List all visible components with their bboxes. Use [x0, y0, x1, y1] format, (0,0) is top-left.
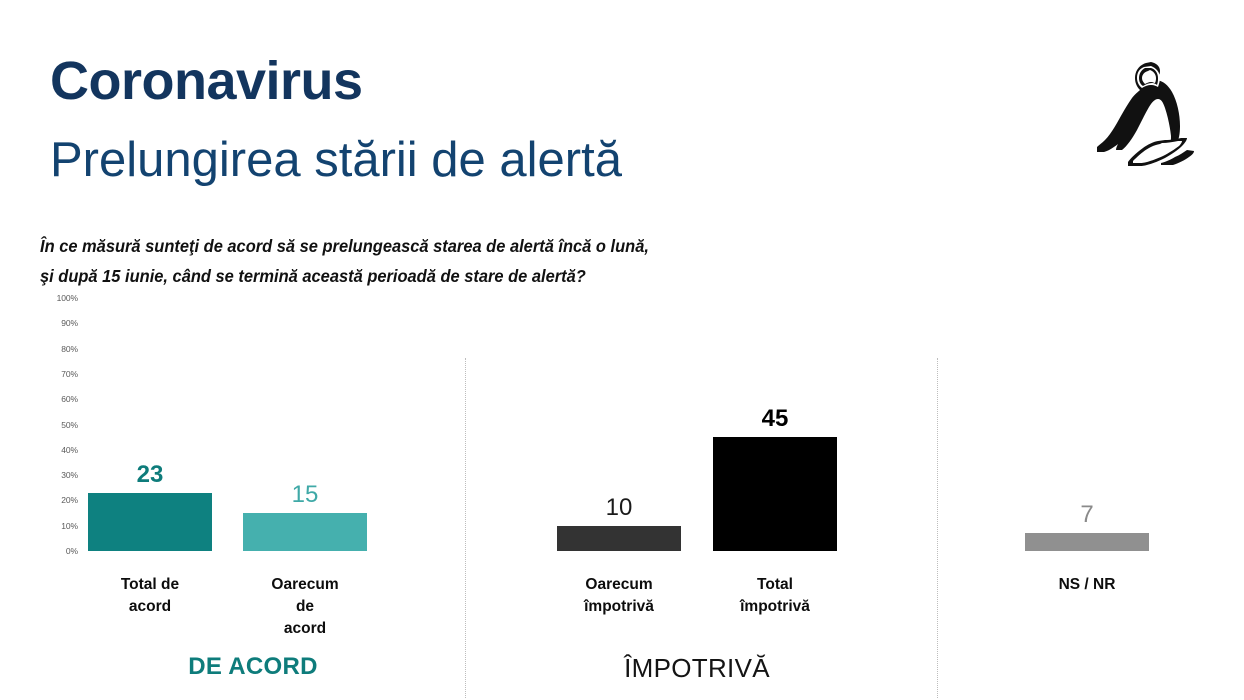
group-caption: DE ACORD	[188, 653, 318, 681]
bar-category-label: Total împotrivă	[740, 574, 810, 618]
question-text: În ce măsură sunteţi de acord să se prel…	[40, 231, 811, 292]
bar-value-label: 23	[137, 463, 164, 487]
bar[interactable]: 23Total de acord	[88, 493, 212, 551]
bar-value-label: 10	[606, 496, 633, 520]
bar-chart: 100%90%80%70%60%50%40%30%20%10%0% 23Tota…	[0, 298, 1244, 700]
bar[interactable]: 15Oarecum de acord	[243, 513, 367, 551]
question-line-1: În ce măsură sunteţi de acord să se prel…	[40, 231, 811, 261]
bar-value-label: 15	[292, 483, 319, 507]
slide-canvas: Coronavirus Prelungirea stării de alertă…	[0, 0, 1244, 700]
bar-value-label: 45	[762, 407, 789, 431]
bar-category-label: Total de acord	[121, 574, 179, 618]
bar[interactable]: 45Total împotrivă	[713, 437, 837, 551]
thinker-figure-logo-icon	[1094, 55, 1204, 170]
bars-container: 23Total de acord15Oarecum de acord10Oare…	[0, 298, 1244, 551]
page-title: Coronavirus	[50, 53, 363, 110]
page-subtitle: Prelungirea stării de alertă	[50, 134, 622, 187]
question-line-2: şi după 15 iunie, când se termină aceast…	[40, 261, 811, 291]
bar-value-label: 7	[1080, 503, 1093, 527]
group-caption: ÎMPOTRIVĂ	[624, 653, 770, 684]
bar-category-label: Oarecum împotrivă	[584, 574, 654, 618]
bar[interactable]: 10Oarecum împotrivă	[557, 526, 681, 551]
bar[interactable]: 7NS / NR	[1025, 533, 1149, 551]
bar-category-label: NS / NR	[1059, 574, 1116, 596]
bar-category-label: Oarecum de acord	[271, 574, 338, 640]
